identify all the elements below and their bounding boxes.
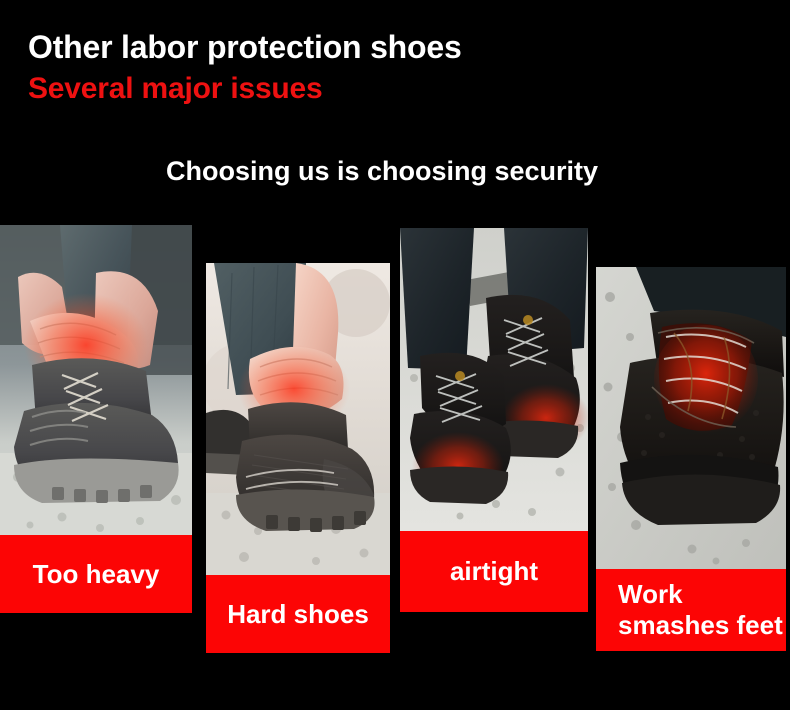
caption-label-airtight: airtight	[450, 556, 538, 587]
heading-block: Other labor protection shoes Several maj…	[28, 28, 462, 107]
caption-band-too-heavy: Too heavy	[0, 535, 192, 613]
photo-pair-of-boots-heat-glow	[400, 228, 588, 531]
poster-canvas: Other labor protection shoes Several maj…	[0, 0, 790, 710]
photo-hands-gripping-ankle	[0, 225, 192, 535]
panel-airtight	[400, 228, 588, 531]
caption-label-work-smashes-feet: Work smashes feet	[618, 579, 786, 641]
photo-hand-gripping-ankle	[206, 263, 390, 575]
caption-label-hard-shoes: Hard shoes	[227, 599, 369, 630]
page-subtitle: Several major issues	[28, 71, 462, 107]
caption-label-too-heavy: Too heavy	[33, 559, 160, 590]
caption-band-work-smashes-feet: Work smashes feet	[596, 569, 786, 651]
panel-hard-shoes	[206, 263, 390, 575]
panel-too-heavy	[0, 225, 192, 535]
photo-closeup-boot-red-glow	[596, 267, 786, 569]
page-title: Other labor protection shoes	[28, 28, 462, 66]
panel-work-smashes-feet	[596, 267, 786, 569]
caption-band-hard-shoes: Hard shoes	[206, 575, 390, 653]
tagline: Choosing us is choosing security	[166, 155, 598, 187]
caption-band-airtight: airtight	[400, 531, 588, 612]
